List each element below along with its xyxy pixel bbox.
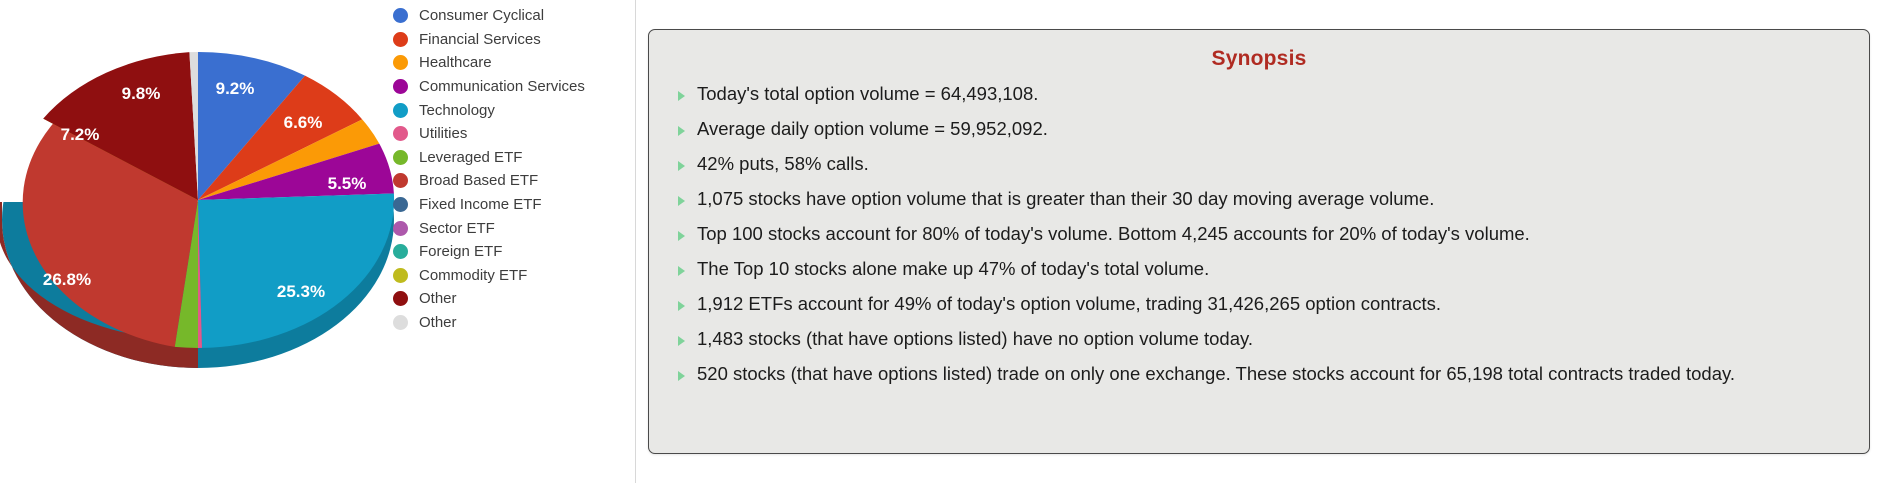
legend-item-consumer-cyclical[interactable]: Consumer Cyclical [393, 4, 633, 28]
page-root: 9.2% 6.6% 5.5% 25.3% 26.8% 7.2% 9.8% Con… [0, 0, 1884, 483]
legend-item-other-gray[interactable]: Other [393, 311, 633, 335]
legend-item-label: Communication Services [419, 79, 585, 94]
synopsis-panel: Synopsis Today's total option volume = 6… [648, 29, 1870, 454]
triangle-bullet-icon [678, 126, 685, 136]
legend-swatch-icon [393, 315, 408, 330]
synopsis-bullet-text: The Top 10 stocks alone make up 47% of t… [697, 258, 1209, 279]
legend-swatch-icon [393, 221, 408, 236]
synopsis-bullet: Top 100 stocks account for 80% of today'… [663, 225, 1855, 244]
legend-item-utilities[interactable]: Utilities [393, 122, 633, 146]
legend-swatch-icon [393, 291, 408, 306]
legend-item-financial-services[interactable]: Financial Services [393, 28, 633, 52]
legend-swatch-icon [393, 8, 408, 23]
legend-swatch-icon [393, 197, 408, 212]
legend-swatch-icon [393, 268, 408, 283]
synopsis-bullet: The Top 10 stocks alone make up 47% of t… [663, 260, 1855, 279]
synopsis-bullet-list: Today's total option volume = 64,493,108… [649, 85, 1869, 384]
legend-item-label: Other [419, 291, 457, 306]
legend-item-label: Fixed Income ETF [419, 197, 542, 212]
triangle-bullet-icon [678, 371, 685, 381]
synopsis-bullet-text: 520 stocks (that have options listed) tr… [697, 363, 1735, 384]
slice-technology[interactable] [198, 194, 394, 348]
legend-item-leveraged-etf[interactable]: Leveraged ETF [393, 146, 633, 170]
synopsis-bullet-text: Top 100 stocks account for 80% of today'… [697, 223, 1530, 244]
synopsis-bullet-text: Today's total option volume = 64,493,108… [697, 83, 1038, 104]
legend-item-label: Utilities [419, 126, 467, 141]
triangle-bullet-icon [678, 91, 685, 101]
pie-label-broad-based-etf: 26.8% [43, 270, 91, 289]
triangle-bullet-icon [678, 231, 685, 241]
synopsis-bullet: 1,075 stocks have option volume that is … [663, 190, 1855, 209]
triangle-bullet-icon [678, 336, 685, 346]
triangle-bullet-icon [678, 301, 685, 311]
synopsis-bullet: 1,912 ETFs account for 49% of today's op… [663, 295, 1855, 314]
legend-swatch-icon [393, 79, 408, 94]
synopsis-bullet: 520 stocks (that have options listed) tr… [663, 365, 1855, 384]
legend-item-label: Other [419, 315, 457, 330]
synopsis-title: Synopsis [649, 47, 1869, 71]
synopsis-bullet-text: 42% puts, 58% calls. [697, 153, 869, 174]
legend-swatch-icon [393, 32, 408, 47]
synopsis-bullet: Today's total option volume = 64,493,108… [663, 85, 1855, 104]
legend-item-technology[interactable]: Technology [393, 98, 633, 122]
legend-item-label: Sector ETF [419, 221, 495, 236]
legend-item-communication-services[interactable]: Communication Services [393, 75, 633, 99]
pie-label-technology: 25.3% [277, 282, 325, 301]
synopsis-bullet-text: 1,075 stocks have option volume that is … [697, 188, 1434, 209]
legend-item-label: Foreign ETF [419, 244, 502, 259]
synopsis-bullet: 42% puts, 58% calls. [663, 155, 1855, 174]
legend-item-sector-etf[interactable]: Sector ETF [393, 216, 633, 240]
synopsis-bullet: Average daily option volume = 59,952,092… [663, 120, 1855, 139]
triangle-bullet-icon [678, 266, 685, 276]
legend-item-label: Technology [419, 103, 495, 118]
pie-label-consumer-cyclical: 9.2% [216, 79, 255, 98]
pie-label-communication-services: 5.5% [328, 174, 367, 193]
legend-item-fixed-income-etf[interactable]: Fixed Income ETF [393, 193, 633, 217]
legend-swatch-icon [393, 244, 408, 259]
legend-item-broad-based-etf[interactable]: Broad Based ETF [393, 169, 633, 193]
legend-item-label: Financial Services [419, 32, 541, 47]
synopsis-bullet-text: Average daily option volume = 59,952,092… [697, 118, 1048, 139]
legend-item-other-dark[interactable]: Other [393, 287, 633, 311]
legend-item-label: Leveraged ETF [419, 150, 522, 165]
legend-swatch-icon [393, 173, 408, 188]
legend-swatch-icon [393, 126, 408, 141]
legend-item-healthcare[interactable]: Healthcare [393, 51, 633, 75]
triangle-bullet-icon [678, 196, 685, 206]
synopsis-bullet: 1,483 stocks (that have options listed) … [663, 330, 1855, 349]
pie-chart[interactable]: 9.2% 6.6% 5.5% 25.3% 26.8% 7.2% 9.8% [0, 14, 396, 394]
legend-item-label: Broad Based ETF [419, 173, 538, 188]
legend-item-label: Commodity ETF [419, 268, 527, 283]
synopsis-bullet-text: 1,912 ETFs account for 49% of today's op… [697, 293, 1441, 314]
legend-item-commodity-etf[interactable]: Commodity ETF [393, 264, 633, 288]
legend-swatch-icon [393, 55, 408, 70]
pie-label-commodity-etf: 7.2% [61, 125, 100, 144]
legend-item-label: Consumer Cyclical [419, 8, 544, 23]
triangle-bullet-icon [678, 161, 685, 171]
pie-chart-panel: 9.2% 6.6% 5.5% 25.3% 26.8% 7.2% 9.8% Con… [0, 0, 636, 483]
synopsis-bullet-text: 1,483 stocks (that have options listed) … [697, 328, 1253, 349]
chart-legend: Consumer Cyclical Financial Services Hea… [393, 4, 633, 334]
pie-chart-svg[interactable]: 9.2% 6.6% 5.5% 25.3% 26.8% 7.2% 9.8% [0, 14, 396, 394]
pie-label-other: 9.8% [122, 84, 161, 103]
legend-swatch-icon [393, 103, 408, 118]
legend-item-label: Healthcare [419, 55, 492, 70]
legend-swatch-icon [393, 150, 408, 165]
pie-label-financial-services: 6.6% [284, 113, 323, 132]
legend-item-foreign-etf[interactable]: Foreign ETF [393, 240, 633, 264]
